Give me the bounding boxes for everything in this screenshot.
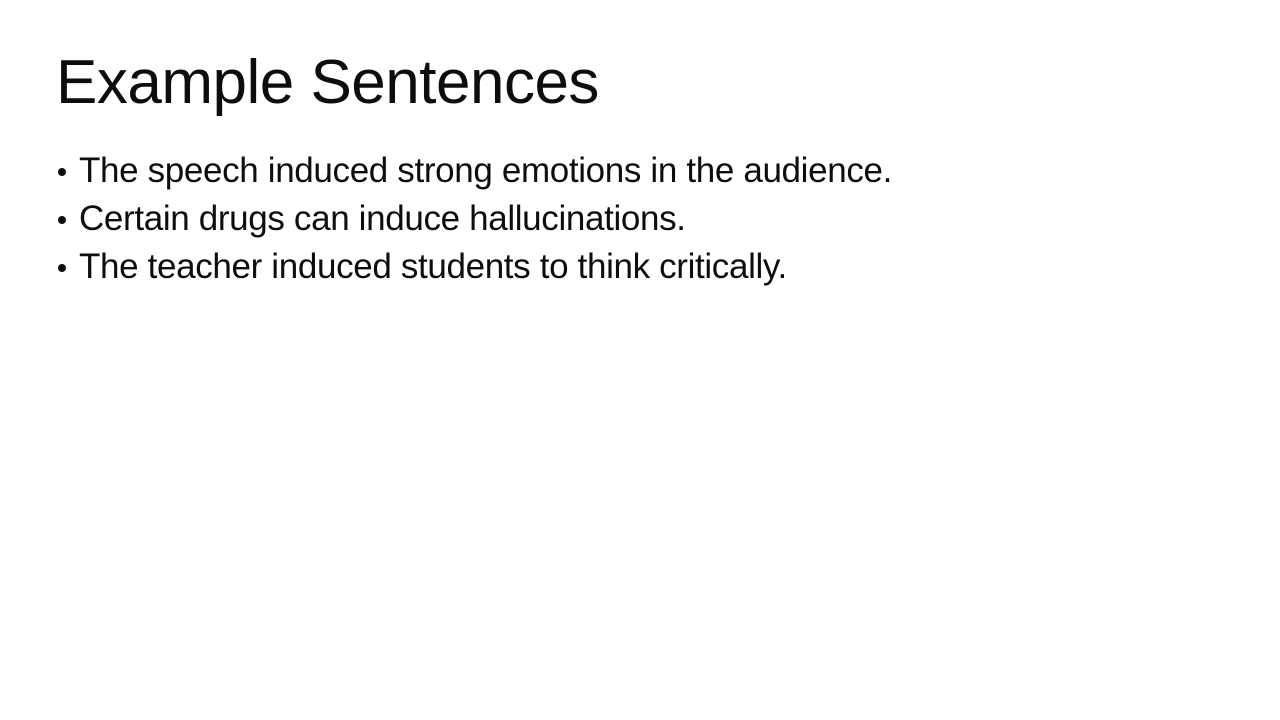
page-title: Example Sentences [56,52,599,114]
bullet-dot-icon [58,168,66,176]
list-item-label: The speech induced strong emotions in th… [79,151,892,190]
slide-canvas: Example Sentences The speech induced str… [0,0,1280,720]
list-item: Certain drugs can induce hallucinations. [56,200,1176,238]
list-item: The teacher induced students to think cr… [56,248,1176,286]
bullet-list: The speech induced strong emotions in th… [56,152,1176,286]
bullet-dot-icon [58,216,66,224]
list-item-label: Certain drugs can induce hallucinations. [79,199,686,238]
bullet-dot-icon [58,264,66,272]
list-item: The speech induced strong emotions in th… [56,152,1176,190]
list-item-label: The teacher induced students to think cr… [79,247,787,286]
